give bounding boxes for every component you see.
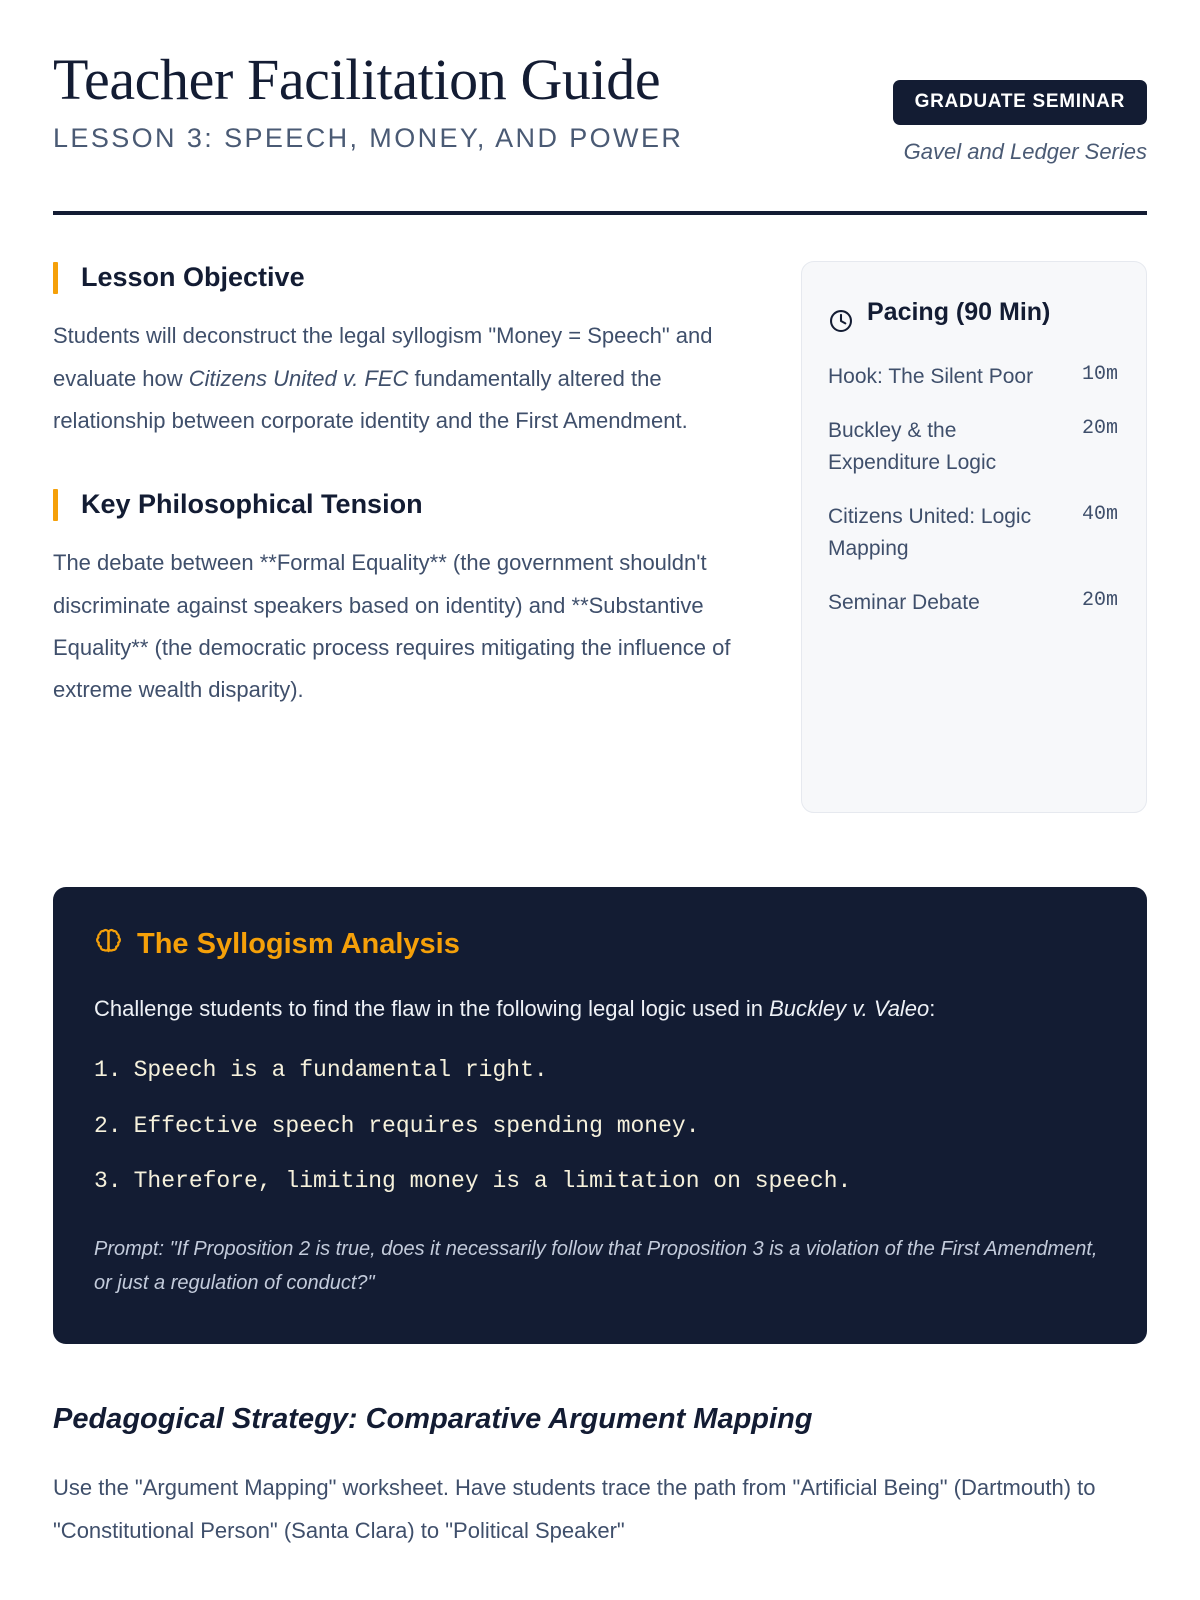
syllogism-intro-after: :	[929, 996, 935, 1021]
header-left: Teacher Facilitation Guide LESSON 3: SPE…	[53, 46, 683, 154]
syllogism-item-number: 2.	[94, 1112, 122, 1142]
pacing-label: Seminar Debate	[828, 587, 980, 620]
syllogism-list: 1. Speech is a fundamental right. 2. Eff…	[94, 1056, 1106, 1198]
pacing-label: Hook: The Silent Poor	[828, 361, 1033, 394]
pacing-card: Pacing (90 Min) Hook: The Silent Poor 10…	[801, 261, 1147, 813]
syllogism-title: The Syllogism Analysis	[137, 927, 460, 962]
main-column: Lesson Objective Students will deconstru…	[53, 261, 753, 813]
syllogism-prompt: Prompt: "If Proposition 2 is true, does …	[94, 1233, 1106, 1300]
list-item: Citizens United: Logic Mapping 40m	[828, 501, 1118, 566]
syllogism-item-text: Speech is a fundamental right.	[134, 1056, 548, 1086]
status-badge: GRADUATE SEMINAR	[893, 80, 1147, 125]
list-item: 2. Effective speech requires spending mo…	[94, 1112, 1106, 1142]
objective-text: Students will deconstruct the legal syll…	[53, 315, 753, 442]
pacing-duration: 20m	[1082, 587, 1118, 612]
section-lesson-objective: Lesson Objective Students will deconstru…	[53, 261, 753, 442]
page-title: Teacher Facilitation Guide	[53, 50, 683, 109]
list-item: 1. Speech is a fundamental right.	[94, 1056, 1106, 1086]
syllogism-item-number: 1.	[94, 1056, 122, 1086]
section-key-tension: Key Philosophical Tension The debate bet…	[53, 488, 753, 711]
strategy-text: Use the "Argument Mapping" worksheet. Ha…	[53, 1467, 1147, 1551]
syllogism-intro: Challenge students to find the flaw in t…	[94, 990, 1106, 1028]
document-page: Teacher Facilitation Guide LESSON 3: SPE…	[0, 0, 1200, 1600]
series-label: Gavel and Ledger Series	[893, 139, 1147, 165]
syllogism-panel: The Syllogism Analysis Challenge student…	[53, 887, 1147, 1344]
syllogism-item-number: 3.	[94, 1167, 122, 1197]
tension-text: The debate between **Formal Equality** (…	[53, 542, 753, 711]
list-item: 3. Therefore, limiting money is a limita…	[94, 1167, 1106, 1197]
section-heading-tension: Key Philosophical Tension	[53, 488, 753, 520]
syllogism-case-citation: Buckley v. Valeo	[769, 996, 929, 1021]
pacing-label: Citizens United: Logic Mapping	[828, 501, 1070, 566]
header-divider	[53, 211, 1147, 215]
section-spacer	[53, 442, 753, 488]
brain-icon	[94, 927, 123, 961]
list-item: Hook: The Silent Poor 10m	[828, 361, 1118, 394]
pacing-duration: 20m	[1082, 415, 1118, 440]
pacing-duration: 40m	[1082, 501, 1118, 526]
list-item: Seminar Debate 20m	[828, 587, 1118, 620]
lesson-subtitle: LESSON 3: SPEECH, MONEY, AND POWER	[53, 123, 683, 154]
section-pedagogical-strategy: Pedagogical Strategy: Comparative Argume…	[53, 1402, 1147, 1551]
pacing-header: Pacing (90 Min)	[828, 296, 1118, 339]
body-grid: Lesson Objective Students will deconstru…	[53, 261, 1147, 813]
objective-case-citation: Citizens United v. FEC	[189, 366, 409, 391]
syllogism-header: The Syllogism Analysis	[94, 927, 1106, 962]
list-item: Buckley & the Expenditure Logic 20m	[828, 415, 1118, 480]
pacing-label: Buckley & the Expenditure Logic	[828, 415, 1070, 480]
section-heading-objective: Lesson Objective	[53, 261, 753, 293]
syllogism-item-text: Therefore, limiting money is a limitatio…	[134, 1167, 852, 1197]
side-column: Pacing (90 Min) Hook: The Silent Poor 10…	[801, 261, 1147, 813]
syllogism-intro-before: Challenge students to find the flaw in t…	[94, 996, 769, 1021]
pacing-duration: 10m	[1082, 361, 1118, 386]
header-right: GRADUATE SEMINAR Gavel and Ledger Series	[893, 46, 1147, 165]
syllogism-item-text: Effective speech requires spending money…	[134, 1112, 700, 1142]
clock-icon	[828, 308, 854, 339]
document-header: Teacher Facilitation Guide LESSON 3: SPE…	[53, 46, 1147, 165]
pacing-title: Pacing (90 Min)	[867, 296, 1050, 330]
strategy-heading: Pedagogical Strategy: Comparative Argume…	[53, 1402, 1147, 1437]
pacing-list: Hook: The Silent Poor 10m Buckley & the …	[828, 361, 1118, 619]
